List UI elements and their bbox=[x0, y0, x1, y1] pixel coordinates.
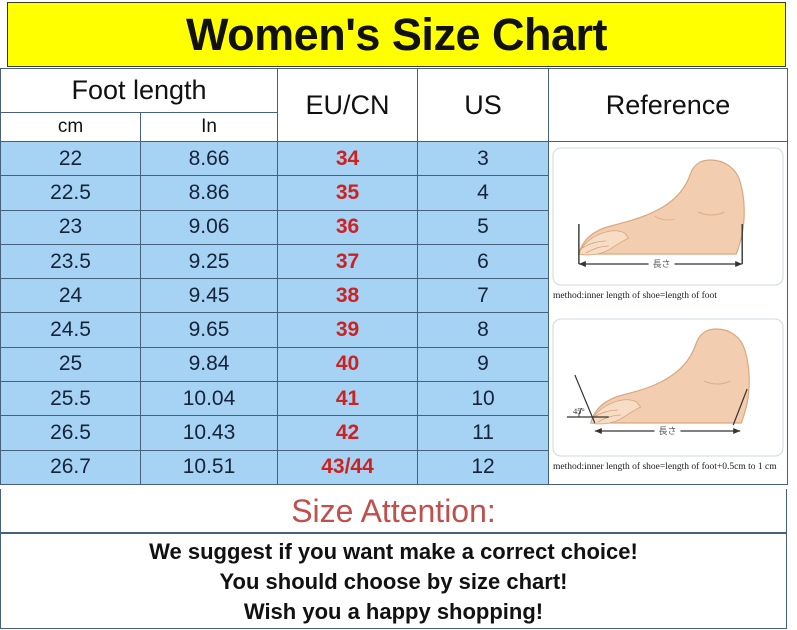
cell-cm: 24 bbox=[1, 279, 141, 313]
cell-cm: 25.5 bbox=[1, 382, 141, 416]
cell-us: 7 bbox=[418, 279, 549, 313]
cell-in: 9.45 bbox=[141, 279, 278, 313]
cell-in: 8.86 bbox=[141, 176, 278, 210]
cell-us: 6 bbox=[418, 244, 549, 278]
cell-us: 5 bbox=[418, 210, 549, 244]
cell-in: 9.65 bbox=[141, 313, 278, 347]
cell-cm: 26.7 bbox=[1, 450, 141, 484]
size-chart-table: Foot length EU/CN US Reference cm In 22 … bbox=[0, 68, 788, 485]
footer-line: We suggest if you want make a correct ch… bbox=[149, 537, 638, 567]
cell-cm: 24.5 bbox=[1, 313, 141, 347]
column-header-in: In bbox=[141, 113, 278, 142]
column-header-foot-length: Foot length bbox=[1, 69, 278, 113]
cell-eu: 36 bbox=[278, 210, 418, 244]
cell-cm: 22 bbox=[1, 142, 141, 176]
table-body: 22 8.66 34 3 bbox=[1, 142, 788, 485]
cell-in: 10.43 bbox=[141, 416, 278, 450]
table-header: Foot length EU/CN US Reference cm In bbox=[1, 69, 788, 142]
cell-in: 10.51 bbox=[141, 450, 278, 484]
reference-caption-1: method:inner length of shoe=length of fo… bbox=[549, 291, 787, 305]
cell-cm: 22.5 bbox=[1, 176, 141, 210]
foot-side-profile-icon: 長さ bbox=[549, 142, 787, 291]
cell-in: 9.84 bbox=[141, 347, 278, 381]
table-row: 22 8.66 34 3 bbox=[1, 142, 788, 176]
size-attention-band: Size Attention: bbox=[0, 489, 787, 533]
cell-eu: 43/44 bbox=[278, 450, 418, 484]
cell-cm: 23 bbox=[1, 210, 141, 244]
cell-us: 3 bbox=[418, 142, 549, 176]
table-header-row-primary: Foot length EU/CN US Reference bbox=[1, 69, 788, 113]
reference-cell: 長さ method:inner length of shoe=length of… bbox=[549, 142, 788, 485]
column-header-us: US bbox=[418, 69, 549, 142]
cell-eu: 39 bbox=[278, 313, 418, 347]
cell-in: 10.04 bbox=[141, 382, 278, 416]
cell-eu: 37 bbox=[278, 244, 418, 278]
reference-caption-2: method:inner length of shoe=length of fo… bbox=[549, 462, 787, 476]
footer-line: Wish you a happy shopping! bbox=[244, 597, 543, 627]
cell-us: 12 bbox=[418, 450, 549, 484]
column-header-eu-cn: EU/CN bbox=[278, 69, 418, 142]
foot-side-profile-angled-icon: 45° 長さ bbox=[549, 313, 787, 462]
cell-us: 4 bbox=[418, 176, 549, 210]
page-title: Women's Size Chart bbox=[186, 12, 607, 57]
footer-line: You should choose by size chart! bbox=[220, 567, 568, 597]
column-header-reference: Reference bbox=[549, 69, 788, 142]
chart-title-banner: Women's Size Chart bbox=[7, 2, 786, 67]
reference-block-2: 45° 長さ method:inner length of shoe=lengt… bbox=[549, 313, 787, 484]
cell-cm: 25 bbox=[1, 347, 141, 381]
cell-eu: 40 bbox=[278, 347, 418, 381]
cell-eu: 34 bbox=[278, 142, 418, 176]
reference-content: 長さ method:inner length of shoe=length of… bbox=[549, 142, 787, 484]
reference-block-1: 長さ method:inner length of shoe=length of… bbox=[549, 142, 787, 313]
cell-us: 8 bbox=[418, 313, 549, 347]
cell-us: 9 bbox=[418, 347, 549, 381]
cell-eu: 35 bbox=[278, 176, 418, 210]
cell-eu: 38 bbox=[278, 279, 418, 313]
cell-us: 10 bbox=[418, 382, 549, 416]
column-header-cm: cm bbox=[1, 113, 141, 142]
cell-in: 9.06 bbox=[141, 210, 278, 244]
cell-in: 9.25 bbox=[141, 244, 278, 278]
size-attention-heading: Size Attention: bbox=[291, 495, 496, 527]
cell-cm: 26.5 bbox=[1, 416, 141, 450]
size-chart-page: Women's Size Chart Foot length EU/CN US … bbox=[0, 0, 797, 630]
cell-us: 11 bbox=[418, 416, 549, 450]
cell-in: 8.66 bbox=[141, 142, 278, 176]
cell-eu: 41 bbox=[278, 382, 418, 416]
cell-eu: 42 bbox=[278, 416, 418, 450]
svg-text:長さ: 長さ bbox=[653, 259, 671, 269]
angle-label: 45° bbox=[573, 406, 585, 416]
svg-text:長さ: 長さ bbox=[659, 426, 677, 436]
cell-cm: 23.5 bbox=[1, 244, 141, 278]
footer-advisory: We suggest if you want make a correct ch… bbox=[0, 533, 787, 629]
